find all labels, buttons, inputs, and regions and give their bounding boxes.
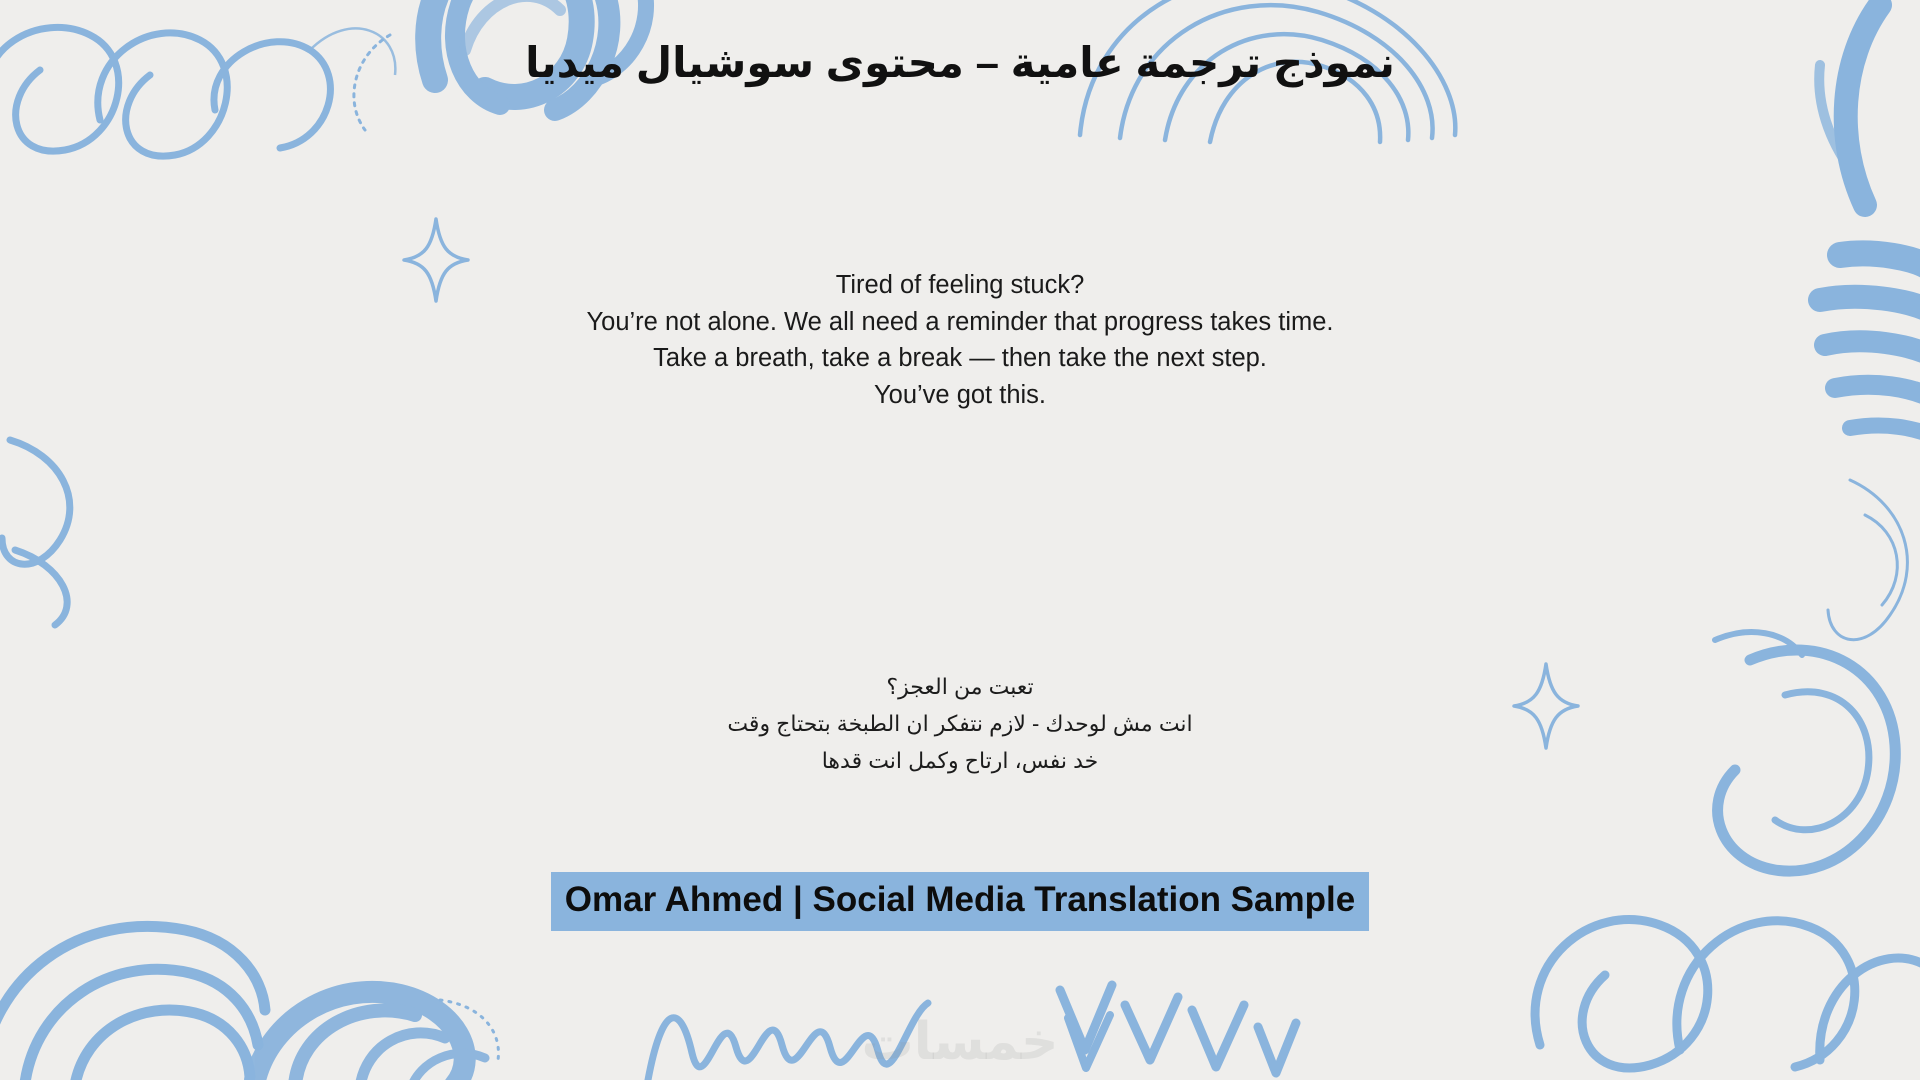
slide-canvas: خمسات نموذج ترجمة عامية – محتوى سوشيال م… (0, 0, 1920, 1080)
footer-credit-banner: Omar Ahmed | Social Media Translation Sa… (551, 872, 1369, 931)
source-line-4: You’ve got this. (0, 377, 1920, 414)
footer-area: Omar Ahmed | Social Media Translation Sa… (0, 872, 1920, 931)
target-line-1: تعبت من العجز؟ (0, 668, 1920, 705)
target-text-block: تعبت من العجز؟ انت مش لوحدك - لازم نتفكر… (0, 668, 1920, 779)
page-title: نموذج ترجمة عامية – محتوى سوشيال ميديا (0, 38, 1920, 87)
source-line-2: You’re not alone. We all need a reminder… (0, 304, 1920, 341)
source-line-1: Tired of feeling stuck? (0, 267, 1920, 304)
slide-content: نموذج ترجمة عامية – محتوى سوشيال ميديا T… (0, 0, 1920, 1080)
source-text-block: Tired of feeling stuck? You’re not alone… (0, 267, 1920, 413)
target-line-2: انت مش لوحدك - لازم نتفكر ان الطبخة بتحت… (0, 705, 1920, 742)
source-line-3: Take a breath, take a break — then take … (0, 340, 1920, 377)
target-line-3: خد نفس، ارتاح وكمل انت قدها (0, 742, 1920, 779)
